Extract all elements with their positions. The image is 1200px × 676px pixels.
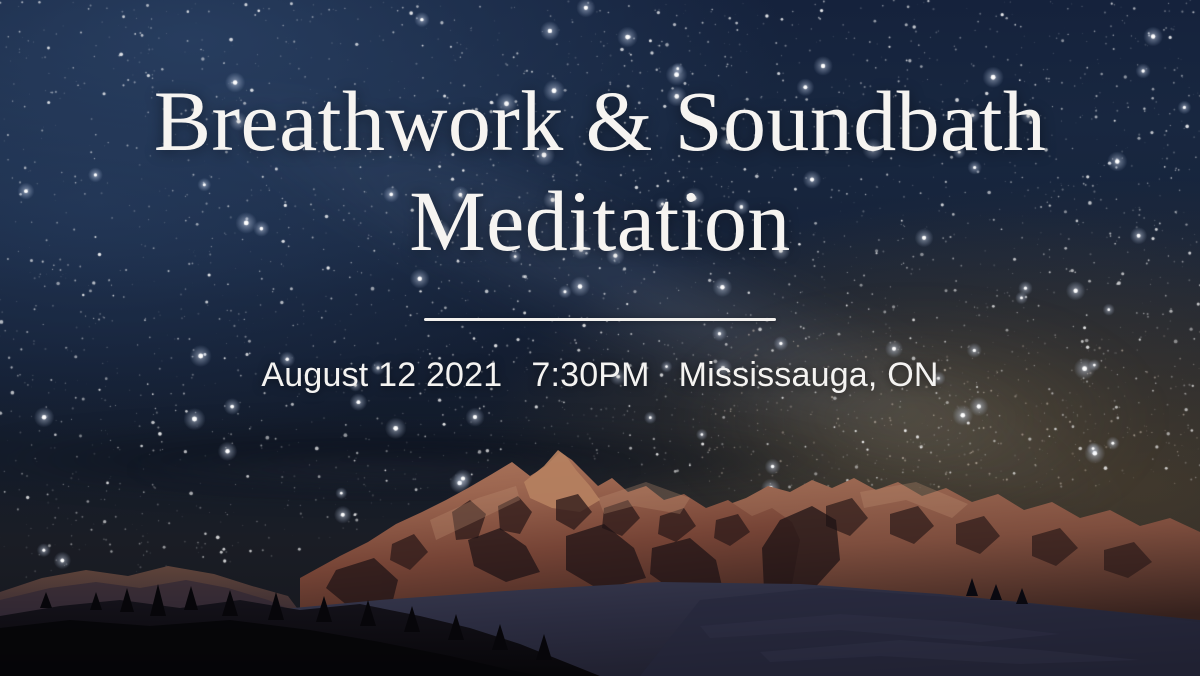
event-poster: Breathwork & Soundbath Meditation August… [0,0,1200,676]
event-details: August 12 2021 7:30PM Mississauga, ON [0,356,1200,395]
poster-title: Breathwork & Soundbath Meditation [0,72,1200,272]
title-divider [424,318,776,321]
poster-content: Breathwork & Soundbath Meditation August… [0,0,1200,676]
